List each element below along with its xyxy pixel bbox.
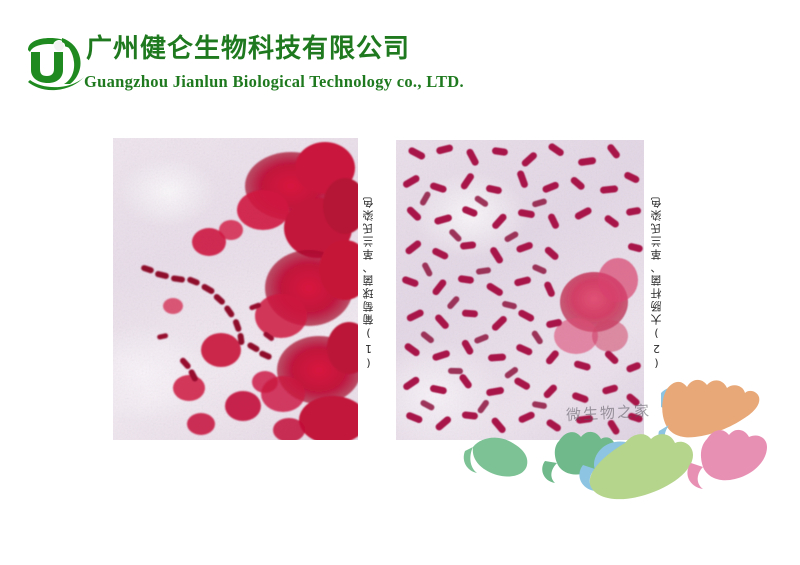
bird-green-left-icon [464,438,528,477]
micrograph-image-1 [113,138,358,440]
micrograph-cells-1 [113,138,358,440]
jl-monogram-logo-icon [26,36,88,92]
figure-caption-2: (2)大肠杆菌、革兰氏染色 [651,238,662,370]
figure-caption-1: (1)葡萄球菌、革兰氏染色 [363,238,374,370]
bird-pink-icon [687,430,767,489]
company-name-english: Guangzhou Jianlun Biological Technology … [84,72,464,92]
company-name-chinese: 广州健仑生物科技有限公司 [86,32,410,66]
slide-canvas: 广州健仑生物科技有限公司 Guangzhou Jianlun Biologica… [0,0,800,565]
company-header: 广州健仑生物科技有限公司 Guangzhou Jianlun Biologica… [26,32,446,98]
bird-flock-graphic [455,375,800,515]
